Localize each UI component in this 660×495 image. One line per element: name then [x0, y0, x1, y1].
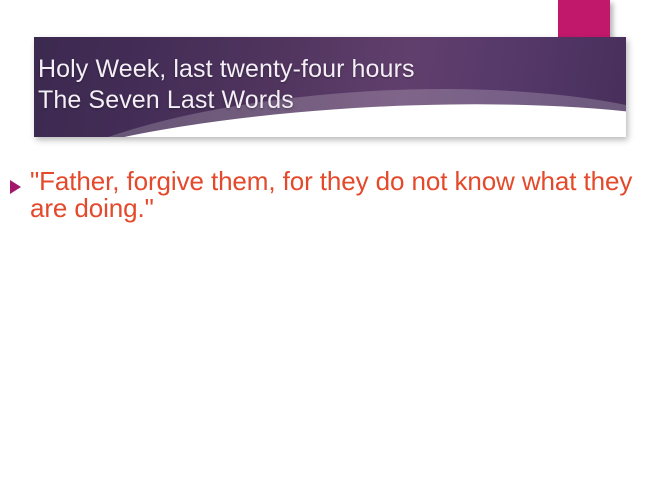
list-item: "Father, forgive them, for they do not k… [0, 168, 660, 222]
title-banner: Holy Week, last twenty-four hours The Se… [0, 0, 660, 160]
bullet-text: "Father, forgive them, for they do not k… [30, 168, 660, 222]
triangle-bullet-icon [10, 180, 21, 194]
slide-content: "Father, forgive them, for they do not k… [0, 168, 660, 488]
slide-title: Holy Week, last twenty-four hours The Se… [38, 54, 598, 116]
presentation-slide: Holy Week, last twenty-four hours The Se… [0, 0, 660, 495]
